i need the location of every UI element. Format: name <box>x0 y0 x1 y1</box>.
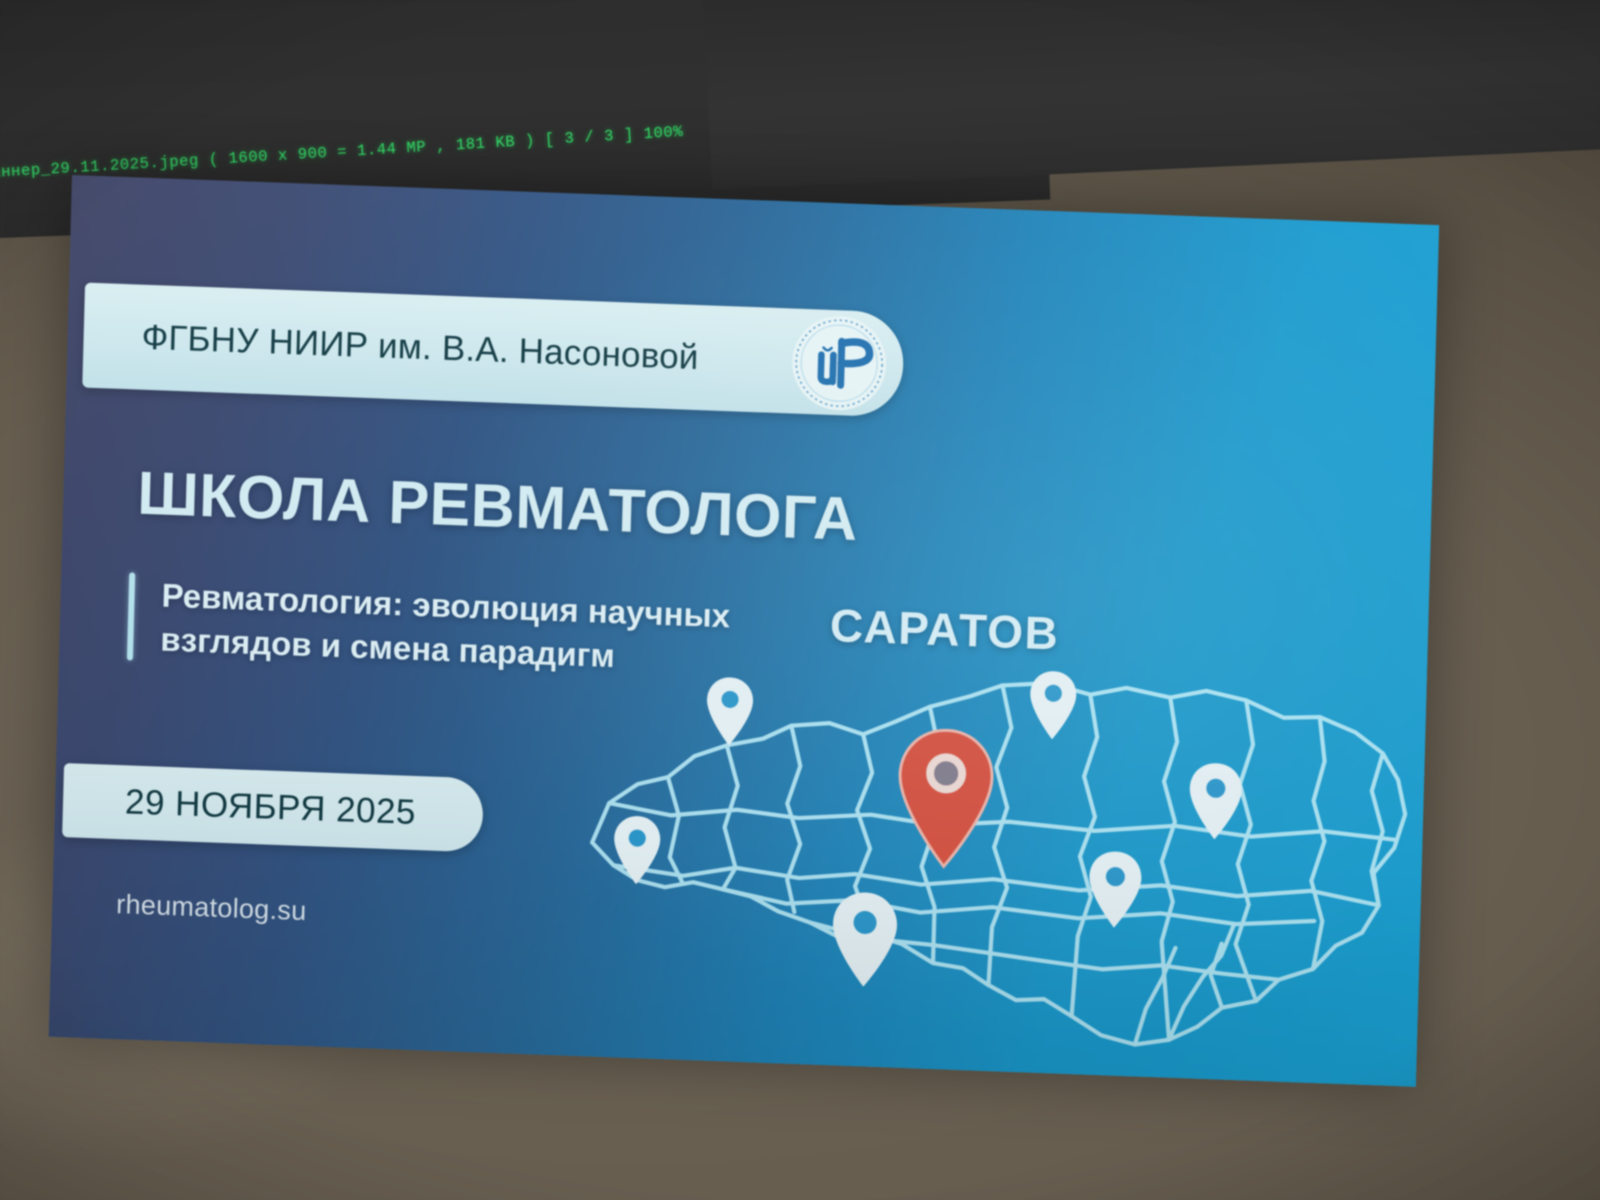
event-date: 29 НОЯБРЯ 2025 <box>125 782 417 833</box>
slide-header-band: ФГБНУ НИИР им. В.А. Насоновой <box>82 283 904 418</box>
map-pin-4[interactable] <box>1029 670 1077 740</box>
map-region-outlines <box>587 667 1408 1055</box>
map-pin-1[interactable] <box>706 677 754 747</box>
projected-slide: ФГБНУ НИИР им. В.А. Насоновой <box>49 175 1439 1087</box>
slide-title: ШКОЛА РЕВМАТОЛОГА <box>136 458 858 554</box>
map-pin-2[interactable] <box>613 815 661 885</box>
map-pin-saratov-active[interactable] <box>898 729 994 868</box>
subtitle-accent-bar <box>127 572 135 660</box>
room-photo-scene: аннер_29.11.2025.jpeg ( 1600 x 900 = 1.4… <box>0 0 1600 1200</box>
russia-regions-outline-map <box>569 632 1420 1078</box>
map-pin-3[interactable] <box>831 891 898 987</box>
event-date-pill: 29 НОЯБРЯ 2025 <box>62 763 484 852</box>
website-url[interactable]: rheumatolog.su <box>116 889 307 927</box>
nasonova-institute-emblem-icon <box>782 305 897 421</box>
institution-name: ФГБНУ НИИР им. В.А. Насоновой <box>141 317 699 377</box>
slide-canvas: ФГБНУ НИИР им. В.А. Насоновой <box>49 175 1439 1087</box>
